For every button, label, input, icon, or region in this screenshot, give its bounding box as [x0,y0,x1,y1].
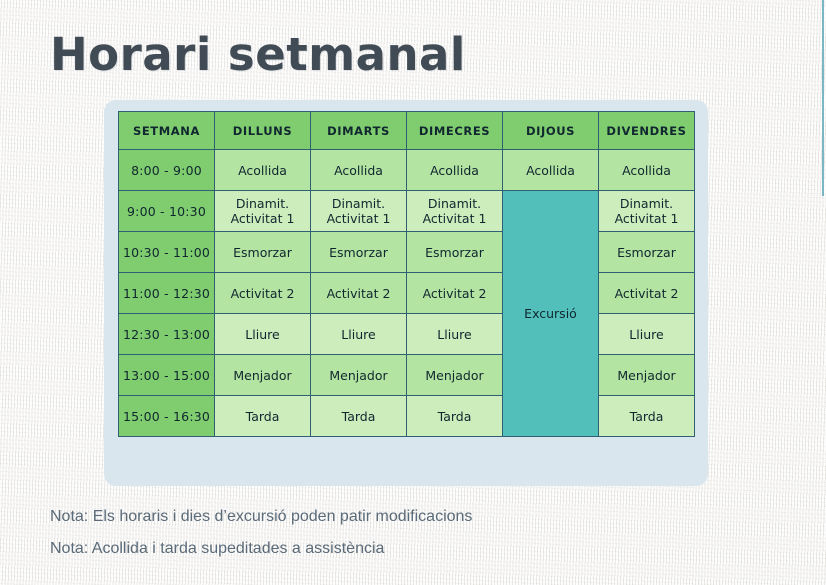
activity-cell: Lliure [311,314,407,355]
column-header-divendres: DIVENDRES [599,112,695,150]
column-header-dimecres: DIMECRES [407,112,503,150]
time-slot-label: 15:00 - 16:30 [119,396,215,437]
activity-cell: Acollida [215,150,311,191]
table-row: 9:00 - 10:30 Dinamit.Activitat 1 Dinamit… [119,191,695,232]
activity-cell: Dinamit.Activitat 1 [599,191,695,232]
note-line: Nota: Els horaris i dies d’excursió pode… [50,508,750,526]
page-title: Horari setmanal [50,28,466,81]
right-edge-accent-line [822,0,824,196]
activity-cell: Esmorzar [215,232,311,273]
activity-cell: Activitat 2 [311,273,407,314]
activity-cell: Activitat 2 [599,273,695,314]
activity-cell: Dinamit.Activitat 1 [407,191,503,232]
notes-section: Nota: Els horaris i dies d’excursió pode… [50,508,750,572]
time-slot-label: 12:30 - 13:00 [119,314,215,355]
activity-cell: Esmorzar [599,232,695,273]
activity-cell: Menjador [215,355,311,396]
activity-cell: Dinamit.Activitat 1 [311,191,407,232]
activity-cell: Menjador [311,355,407,396]
activity-cell: Tarda [407,396,503,437]
schedule-panel: SETMANA DILLUNS DIMARTS DIMECRES DIJOUS … [104,100,708,486]
activity-cell: Lliure [407,314,503,355]
table-row: 11:00 - 12:30 Activitat 2 Activitat 2 Ac… [119,273,695,314]
time-slot-label: 8:00 - 9:00 [119,150,215,191]
activity-cell: Activitat 2 [215,273,311,314]
table-row: 8:00 - 9:00 Acollida Acollida Acollida A… [119,150,695,191]
time-slot-label: 9:00 - 10:30 [119,191,215,232]
activity-cell: Lliure [599,314,695,355]
column-header-setmana: SETMANA [119,112,215,150]
time-slot-label: 11:00 - 12:30 [119,273,215,314]
weekly-schedule-table: SETMANA DILLUNS DIMARTS DIMECRES DIJOUS … [118,111,695,437]
excursion-cell: Excursió [503,191,599,437]
activity-cell: Acollida [599,150,695,191]
column-header-dilluns: DILLUNS [215,112,311,150]
activity-cell: Acollida [407,150,503,191]
activity-cell: Tarda [311,396,407,437]
activity-cell: Menjador [599,355,695,396]
time-slot-label: 10:30 - 11:00 [119,232,215,273]
column-header-dijous: DIJOUS [503,112,599,150]
table-row: 13:00 - 15:00 Menjador Menjador Menjador… [119,355,695,396]
activity-cell: Lliure [215,314,311,355]
activity-cell: Esmorzar [407,232,503,273]
activity-cell: Tarda [215,396,311,437]
activity-cell: Dinamit.Activitat 1 [215,191,311,232]
activity-cell: Activitat 2 [407,273,503,314]
table-row: 10:30 - 11:00 Esmorzar Esmorzar Esmorzar… [119,232,695,273]
activity-cell: Tarda [599,396,695,437]
table-row: 15:00 - 16:30 Tarda Tarda Tarda Tarda [119,396,695,437]
time-slot-label: 13:00 - 15:00 [119,355,215,396]
note-line: Nota: Acollida i tarda supeditades a ass… [50,540,750,558]
activity-cell: Esmorzar [311,232,407,273]
activity-cell: Menjador [407,355,503,396]
table-row: 12:30 - 13:00 Lliure Lliure Lliure Lliur… [119,314,695,355]
table-header-row: SETMANA DILLUNS DIMARTS DIMECRES DIJOUS … [119,112,695,150]
column-header-dimarts: DIMARTS [311,112,407,150]
activity-cell: Acollida [311,150,407,191]
activity-cell: Acollida [503,150,599,191]
